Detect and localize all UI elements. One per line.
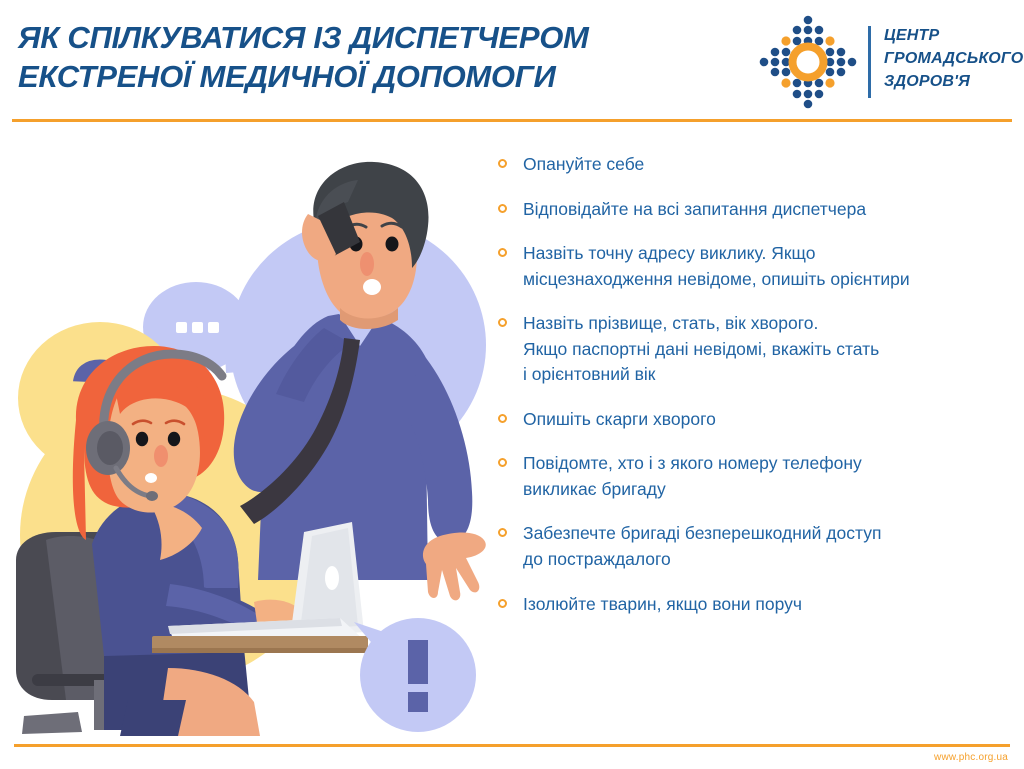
infographic-page: ЯК СПІЛКУВАТИСЯ ІЗ ДИСПЕТЧЕРОМ ЕКСТРЕНОЇ…: [0, 0, 1024, 769]
list-item-label: Назвіть прізвище, стать, вік хворого. Як…: [523, 311, 879, 388]
desk-icon: [152, 636, 368, 653]
page-title: ЯК СПІЛКУВАТИСЯ ІЗ ДИСПЕТЧЕРОМ ЕКСТРЕНОЇ…: [18, 18, 738, 97]
circle-outline-bullet-icon: [498, 248, 507, 257]
list-item: Назвіть точну адресу виклику. Якщо місце…: [498, 241, 1014, 292]
list-item-label: Повідомте, хто і з якого номеру телефону…: [523, 451, 862, 502]
list-item-label: Опишіть скарги хворого: [523, 407, 716, 433]
header-divider-rule: [12, 119, 1012, 122]
footer-divider-rule: [14, 744, 1010, 747]
circle-outline-bullet-icon: [498, 204, 507, 213]
logo: ЦЕНТР ГРОМАДСЬКОГО ЗДОРОВ'Я: [756, 12, 1018, 112]
list-item-label: Відповідайте на всі запитання диспетчера: [523, 197, 866, 223]
list-item-label: Опануйте себе: [523, 152, 644, 178]
list-item: Повідомте, хто і з якого номеру телефону…: [498, 451, 1014, 502]
logo-text: ЦЕНТР ГРОМАДСЬКОГО ЗДОРОВ'Я: [884, 24, 1023, 94]
list-item-label: Ізолюйте тварин, якщо вони поруч: [523, 592, 802, 618]
list-item-label: Назвіть точну адресу виклику. Якщо місце…: [523, 241, 910, 292]
list-item-label: Забезпечте бригаді безперешкодний доступ…: [523, 521, 881, 572]
logo-divider: [868, 26, 871, 98]
list-item: Відповідайте на всі запитання диспетчера: [498, 197, 1014, 223]
exclamation-speech-bubble-icon: [354, 618, 476, 732]
dispatcher-call-illustration: ?: [8, 140, 498, 736]
circle-outline-bullet-icon: [498, 159, 507, 168]
footer-website-url[interactable]: www.phc.org.ua: [934, 752, 1008, 763]
instructions-list: Опануйте себе Відповідайте на всі запита…: [498, 152, 1014, 636]
circle-outline-bullet-icon: [498, 458, 507, 467]
list-item: Опишіть скарги хворого: [498, 407, 1014, 433]
list-item: Опануйте себе: [498, 152, 1014, 178]
diamond-dots-ring-icon: [756, 14, 860, 110]
list-item: Назвіть прізвище, стать, вік хворого. Як…: [498, 311, 1014, 388]
circle-outline-bullet-icon: [498, 414, 507, 423]
list-item: Забезпечте бригаді безперешкодний доступ…: [498, 521, 1014, 572]
circle-outline-bullet-icon: [498, 528, 507, 537]
circle-outline-bullet-icon: [498, 599, 507, 608]
circle-outline-bullet-icon: [498, 318, 507, 327]
hand-gesture: [423, 533, 486, 601]
list-item: Ізолюйте тварин, якщо вони поруч: [498, 592, 1014, 618]
